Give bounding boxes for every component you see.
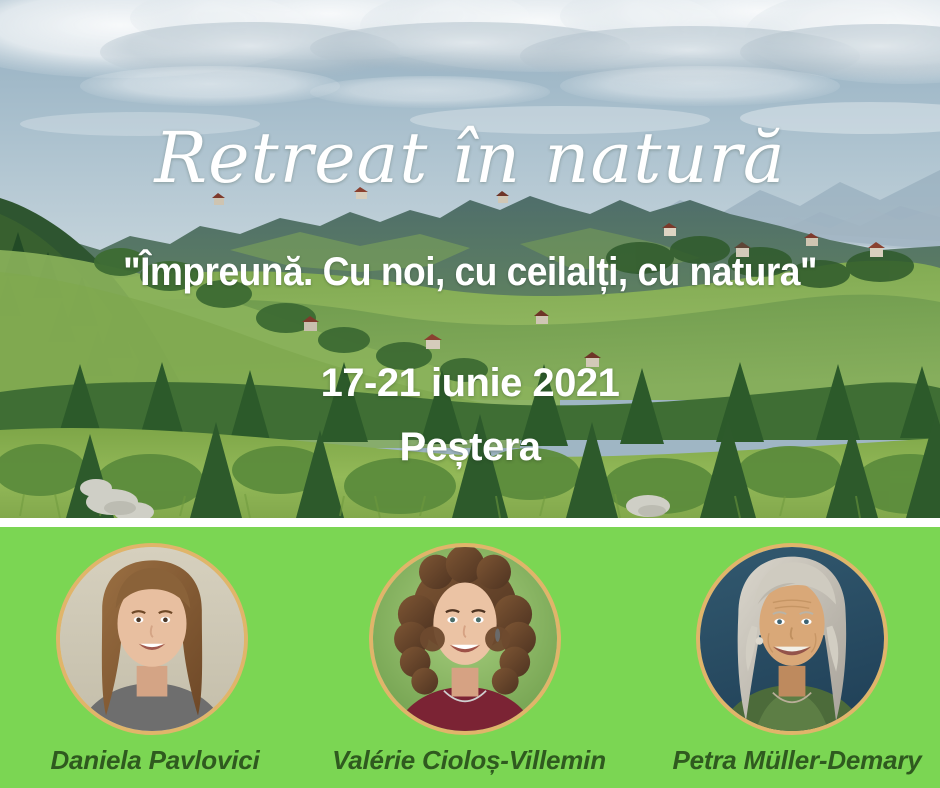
avatar-illustration [373, 547, 557, 731]
speaker-card-daniela-pavlovici: Daniela Pavlovici [10, 527, 300, 776]
retreat-poster: Retreat în natură "Împreună. Cu noi, cu … [0, 0, 940, 788]
avatar-illustration [700, 547, 884, 731]
speakers-panel: Daniela Pavlovici [0, 527, 940, 788]
poster-title: Retreat în natură [0, 123, 940, 193]
speaker-name: Daniela Pavlovici [10, 745, 300, 776]
poster-dates: 17-21 iunie 2021 [0, 363, 940, 403]
poster-subtitle: "Împreună. Cu noi, cu ceilalți, cu natur… [33, 252, 907, 292]
portrait-daniela-pavlovici [56, 543, 248, 735]
portrait-valerie-ciolos-villemin [369, 543, 561, 735]
poster-location: Peștera [0, 427, 940, 467]
speaker-name: Valérie Cioloș-Villemin [324, 745, 614, 776]
speaker-card-petra-muller-demary: Petra Müller-Demary [652, 527, 940, 776]
avatar-illustration [60, 547, 244, 731]
white-divider [0, 518, 940, 527]
hero-landscape-photo: Retreat în natură "Împreună. Cu noi, cu … [0, 0, 940, 518]
speaker-card-valerie-ciolos-villemin: Valérie Cioloș-Villemin [324, 527, 614, 776]
portrait-petra-muller-demary [696, 543, 888, 735]
speaker-name: Petra Müller-Demary [652, 745, 940, 776]
